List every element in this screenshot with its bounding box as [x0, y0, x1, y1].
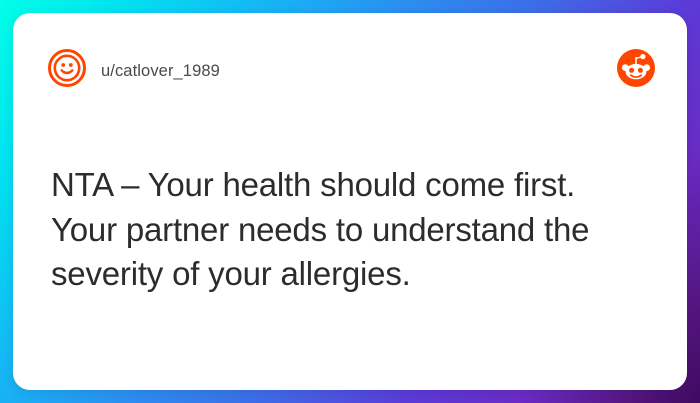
post-body-line: Your partner needs to understand the [51, 208, 653, 253]
smiley-face-avatar-icon[interactable] [47, 48, 87, 88]
post-body-line: NTA – Your health should come first. [51, 163, 653, 208]
reddit-post-card: u/catlover_1989 NTA – Your health should… [13, 13, 687, 390]
reddit-snoo-icon[interactable] [617, 49, 655, 87]
username-label: u/catlover_1989 [101, 59, 220, 83]
post-header: u/catlover_1989 [13, 13, 687, 103]
post-body-text: NTA – Your health should come first. You… [51, 163, 653, 297]
post-body-line: severity of your allergies. [51, 252, 653, 297]
